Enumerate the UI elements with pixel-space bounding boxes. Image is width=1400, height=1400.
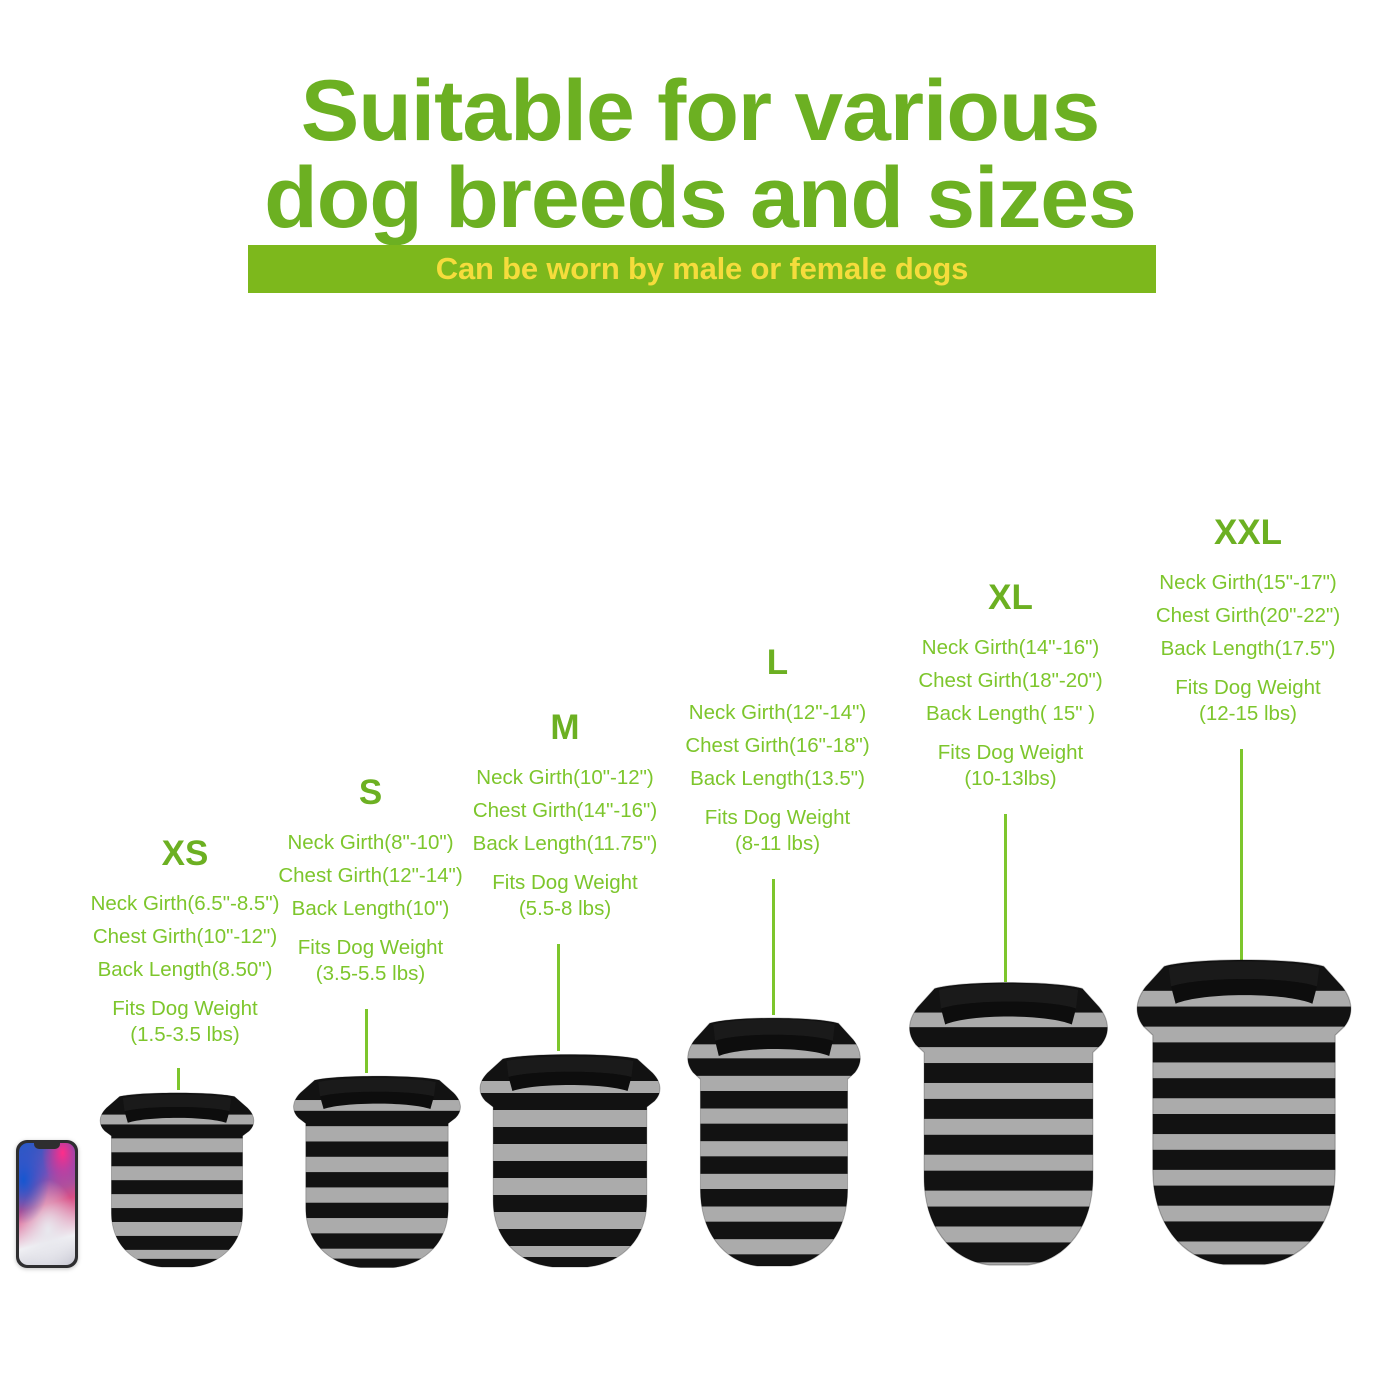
subtitle-text: Can be worn by male or female dogs <box>248 245 1156 293</box>
spec-weight-value-s: (3.5-5.5 lbs) <box>238 961 503 987</box>
spec-neck-girth-l: Neck Girth(12"-14") <box>645 696 910 729</box>
size-label-xl: XL <box>878 580 1143 615</box>
spec-weight-value-xs: (1.5-3.5 lbs) <box>45 1022 325 1048</box>
shirt-svg-l <box>682 1014 866 1273</box>
shirt-graphic-s <box>288 1073 466 1273</box>
shirt-graphic-xs <box>95 1090 259 1272</box>
connector-line-l <box>772 879 775 1015</box>
header: Suitable for various dog breeds and size… <box>0 0 1400 310</box>
shirt-graphic-xxl <box>1130 955 1358 1273</box>
spec-weight-value-m: (5.5-8 lbs) <box>430 896 700 922</box>
spec-back-length-xl: Back Length( 15" ) <box>878 697 1143 730</box>
spec-neck-girth-xxl: Neck Girth(15"-17") <box>1113 566 1383 599</box>
spec-chest-girth-xxl: Chest Girth(20"-22") <box>1113 599 1383 632</box>
connector-line-s <box>365 1009 368 1073</box>
size-column-xl: XL Neck Girth(14"-16") Chest Girth(18"-2… <box>878 580 1143 792</box>
shirt-graphic-m <box>474 1051 666 1273</box>
spec-weight-value-xl: (10-13lbs) <box>878 766 1143 792</box>
connector-line-xs <box>177 1068 180 1090</box>
shirt-svg-s <box>288 1073 466 1273</box>
subtitle-banner: Can be worn by male or female dogs <box>248 245 1156 293</box>
shirt-svg-m <box>474 1051 666 1273</box>
spec-weight-label-xs: Fits Dog Weight <box>45 996 325 1022</box>
shirt-graphic-l <box>682 1014 866 1273</box>
spec-chest-girth-l: Chest Girth(16"-18") <box>645 729 910 762</box>
size-label-l: L <box>645 645 910 680</box>
shirt-svg-xxl <box>1130 955 1358 1273</box>
size-label-xxl: XXL <box>1113 515 1383 550</box>
spec-weight-label-s: Fits Dog Weight <box>238 935 503 961</box>
spec-weight-value-xxl: (12-15 lbs) <box>1113 701 1383 727</box>
spec-back-length-l: Back Length(13.5") <box>645 762 910 795</box>
size-column-l: L Neck Girth(12"-14") Chest Girth(16"-18… <box>645 645 910 857</box>
connector-line-m <box>557 944 560 1051</box>
shirt-graphic-xl <box>903 978 1114 1273</box>
spec-weight-label-xl: Fits Dog Weight <box>878 740 1143 766</box>
connector-line-xl <box>1004 814 1007 982</box>
spec-weight-label-xxl: Fits Dog Weight <box>1113 675 1383 701</box>
spec-back-length-xxl: Back Length(17.5") <box>1113 632 1383 665</box>
shirt-svg-xs <box>95 1090 259 1272</box>
connector-line-xxl <box>1240 749 1243 960</box>
iphone-scale-reference <box>16 1140 78 1268</box>
spec-weight-label-m: Fits Dog Weight <box>430 870 700 896</box>
phone-screen <box>19 1143 75 1265</box>
spec-neck-girth-xl: Neck Girth(14"-16") <box>878 631 1143 664</box>
page-title-line-2: dog breeds and sizes <box>0 155 1400 241</box>
spec-weight-label-l: Fits Dog Weight <box>645 805 910 831</box>
size-column-xxl: XXL Neck Girth(15"-17") Chest Girth(20"-… <box>1113 515 1383 727</box>
page-title-line-1: Suitable for various <box>0 68 1400 154</box>
shirt-svg-xl <box>903 978 1114 1273</box>
spec-chest-girth-xl: Chest Girth(18"-20") <box>878 664 1143 697</box>
spec-weight-value-l: (8-11 lbs) <box>645 831 910 857</box>
phone-notch <box>34 1143 60 1149</box>
